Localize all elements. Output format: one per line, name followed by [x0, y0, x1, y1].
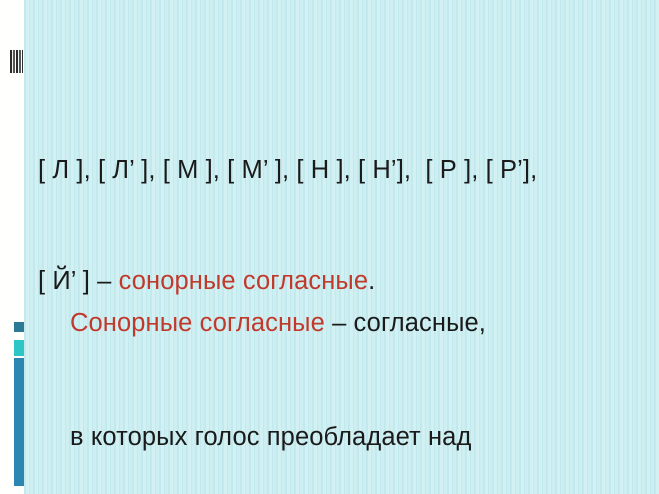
definition-line-1-rest: – согласные, [325, 309, 486, 337]
definition-term: Сонорные согласные [70, 309, 325, 337]
sonorant-definition-text: Сонорные согласные – согласные, в которы… [70, 228, 630, 494]
striped-bars-icon [10, 50, 23, 73]
sonorant-list-line-1: [ Л ], [ Л’ ], [ М ], [ М’ ], [ Н ], [ Н… [38, 152, 638, 189]
slide: [ Л ], [ Л’ ], [ М ], [ М’ ], [ Н ], [ Н… [0, 0, 659, 494]
blue-vertical-bar-icon [14, 358, 24, 486]
left-gutter [0, 0, 24, 494]
teal-square-icon [14, 340, 24, 356]
dark-teal-square-icon [14, 322, 24, 332]
definition-line-1: Сонорные согласные – согласные, [70, 304, 630, 342]
definition-line-2: в которых голос преобладает над [70, 418, 630, 456]
